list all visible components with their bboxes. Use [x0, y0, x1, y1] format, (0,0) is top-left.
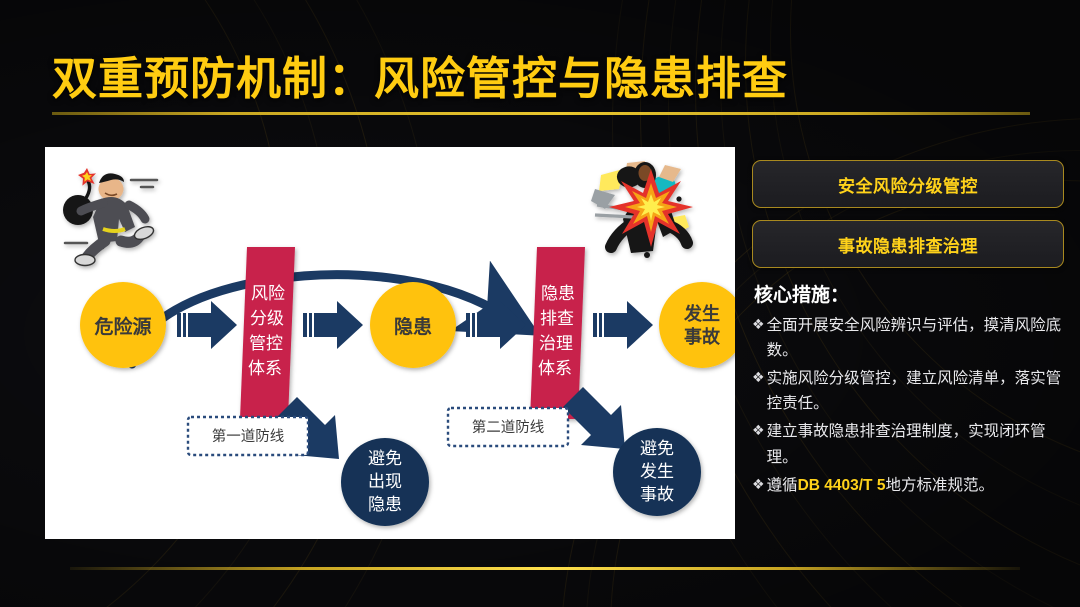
- outcome-line-3: 隐患: [368, 495, 402, 514]
- bar-line-1: 风险: [251, 284, 285, 303]
- diamond-bullet-icon: ❖: [752, 473, 765, 496]
- defense-label: 第一道防线: [212, 427, 285, 445]
- measure-bullet-1: ❖ 全面开展安全风险辨识与评估，摸清风险底数。: [752, 313, 1064, 363]
- node-avoid-hidden-danger: 避免 出现 隐患: [341, 438, 429, 526]
- node-danger-investigation-system: 隐患 排查 治理 体系: [530, 247, 585, 419]
- right-panel: 安全风险分级管控 事故隐患排查治理 核心措施： ❖ 全面开展安全风险辨识与评估，…: [752, 160, 1064, 501]
- outcome-line-3: 事故: [640, 485, 674, 504]
- bottom-divider: [70, 567, 1020, 570]
- node-label: 危险源: [94, 315, 151, 338]
- outcome-line-2: 发生: [640, 462, 674, 481]
- measure-bullet-text: 全面开展安全风险辨识与评估，摸清风险底数。: [767, 313, 1064, 363]
- slide-root: 双重预防机制：风险管控与隐患排查: [0, 0, 1080, 607]
- measure-bullet-4: ❖ 遵循DB 4403/T 5地方标准规范。: [752, 473, 1064, 498]
- node-hazard-source: 危险源: [80, 282, 166, 368]
- measures-heading: 核心措施：: [754, 280, 1064, 307]
- outcome-line-1: 避免: [368, 449, 402, 468]
- explosion-icon: [591, 161, 693, 258]
- node-hidden-danger: 隐患: [370, 282, 456, 368]
- bomb-runner-icon: [63, 168, 157, 266]
- label-second-defense-line: 第二道防线: [448, 408, 568, 446]
- diamond-bullet-icon: ❖: [752, 366, 765, 389]
- flow-arrow-4: [593, 301, 653, 349]
- bar-line-3: 治理: [539, 334, 573, 353]
- defense-label: 第二道防线: [472, 418, 545, 436]
- diamond-bullet-icon: ❖: [752, 313, 765, 336]
- pill-accident-hazard-investigation[interactable]: 事故隐患排查治理: [752, 220, 1064, 268]
- bar-line-1: 隐患: [541, 284, 575, 303]
- bar-line-4: 体系: [538, 359, 572, 378]
- outcome-line-1: 避免: [640, 439, 674, 458]
- measure-bullet-3: ❖ 建立事故隐患排查治理制度，实现闭环管理。: [752, 419, 1064, 469]
- standard-code-highlight: DB 4403/T 5: [798, 477, 886, 494]
- measure-bullet-text: 建立事故隐患排查治理制度，实现闭环管理。: [767, 419, 1064, 469]
- node-risk-control-system: 风险 分级 管控 体系: [240, 247, 295, 419]
- node-accident-occurs: 发生 事故: [659, 282, 735, 368]
- label-first-defense-line: 第一道防线: [188, 417, 308, 455]
- flow-arrow-2: [303, 301, 363, 349]
- node-label-line-1: 发生: [683, 303, 720, 324]
- bar-line-4: 体系: [248, 359, 282, 378]
- title-underline: [52, 112, 1030, 115]
- outcome-line-2: 出现: [368, 472, 402, 491]
- measure-bullet-2: ❖ 实施风险分级管控，建立风险清单，落实管控责任。: [752, 366, 1064, 416]
- node-label-line-2: 事故: [684, 326, 721, 347]
- node-avoid-accident: 避免 发生 事故: [613, 428, 701, 516]
- process-diagram-panel: 危险源 风险 分级 管控 体系: [45, 147, 735, 539]
- bar-line-3: 管控: [249, 334, 283, 353]
- pill-safety-risk-grading-control[interactable]: 安全风险分级管控: [752, 160, 1064, 208]
- measure-bullet-text: 实施风险分级管控，建立风险清单，落实管控责任。: [767, 366, 1064, 416]
- bullet-prefix: 遵循: [767, 477, 798, 494]
- node-label: 隐患: [394, 315, 432, 338]
- diamond-bullet-icon: ❖: [752, 419, 765, 442]
- bar-line-2: 排查: [540, 309, 574, 328]
- bar-line-2: 分级: [250, 309, 284, 328]
- measure-bullet-text-composite: 遵循DB 4403/T 5地方标准规范。: [767, 473, 1064, 498]
- bullet-suffix: 地方标准规范。: [885, 477, 994, 494]
- page-title: 双重预防机制：风险管控与隐患排查: [52, 42, 788, 107]
